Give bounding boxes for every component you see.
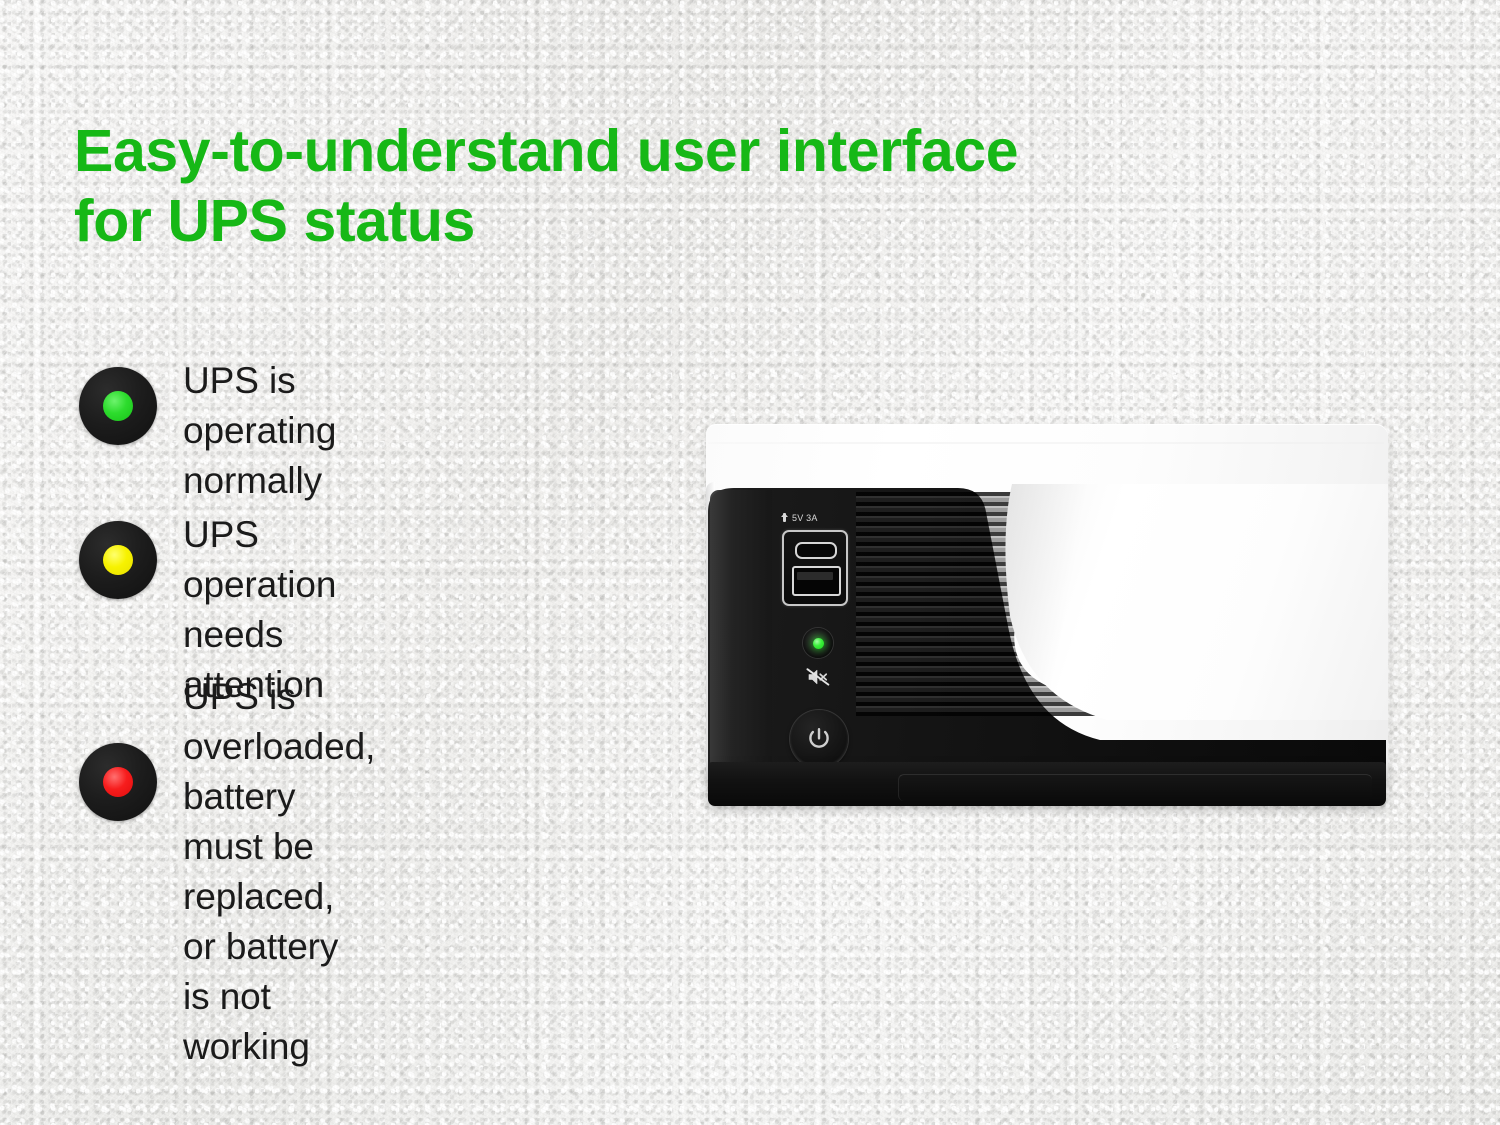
device-status-led-bezel bbox=[803, 628, 833, 658]
status-item-normal-label: UPS is operating normally bbox=[183, 356, 336, 506]
usb-port-label: 5V 3A bbox=[780, 510, 852, 525]
usb-port-block bbox=[782, 530, 848, 606]
ups-base-plinth bbox=[708, 762, 1386, 806]
ups-front-left-column bbox=[710, 490, 772, 778]
ups-device-image: 5V 3A bbox=[706, 424, 1388, 806]
slide-canvas: Easy-to-understand user interface for UP… bbox=[0, 0, 1500, 1125]
background-speck bbox=[1141, 293, 1145, 297]
led-dot-yellow-icon bbox=[103, 545, 133, 575]
mute-speaker-icon bbox=[805, 667, 831, 687]
ups-top-seam bbox=[708, 442, 1384, 444]
ups-base-inset bbox=[898, 774, 1372, 801]
device-status-led-icon bbox=[813, 638, 824, 649]
led-dot-green-icon bbox=[103, 391, 133, 421]
led-dot-red-icon bbox=[103, 767, 133, 797]
usb-port-rating: 5V 3A bbox=[792, 513, 818, 523]
background-speck bbox=[1376, 1043, 1379, 1046]
led-indicator-red bbox=[79, 743, 157, 821]
usb-a-port-icon[interactable] bbox=[792, 566, 841, 596]
led-indicator-green bbox=[79, 367, 157, 445]
page-title: Easy-to-understand user interface for UP… bbox=[74, 116, 1224, 256]
status-item-fault-label: UPS is overloaded, battery must be repla… bbox=[183, 672, 375, 1072]
led-indicator-yellow bbox=[79, 521, 157, 599]
usb-icon bbox=[780, 513, 789, 522]
usb-c-port-icon[interactable] bbox=[795, 542, 837, 559]
power-symbol-icon bbox=[806, 726, 832, 752]
background-speck bbox=[300, 268, 303, 271]
power-button[interactable] bbox=[790, 710, 848, 768]
background-speck bbox=[688, 982, 691, 985]
usb-a-tongue bbox=[797, 572, 833, 580]
